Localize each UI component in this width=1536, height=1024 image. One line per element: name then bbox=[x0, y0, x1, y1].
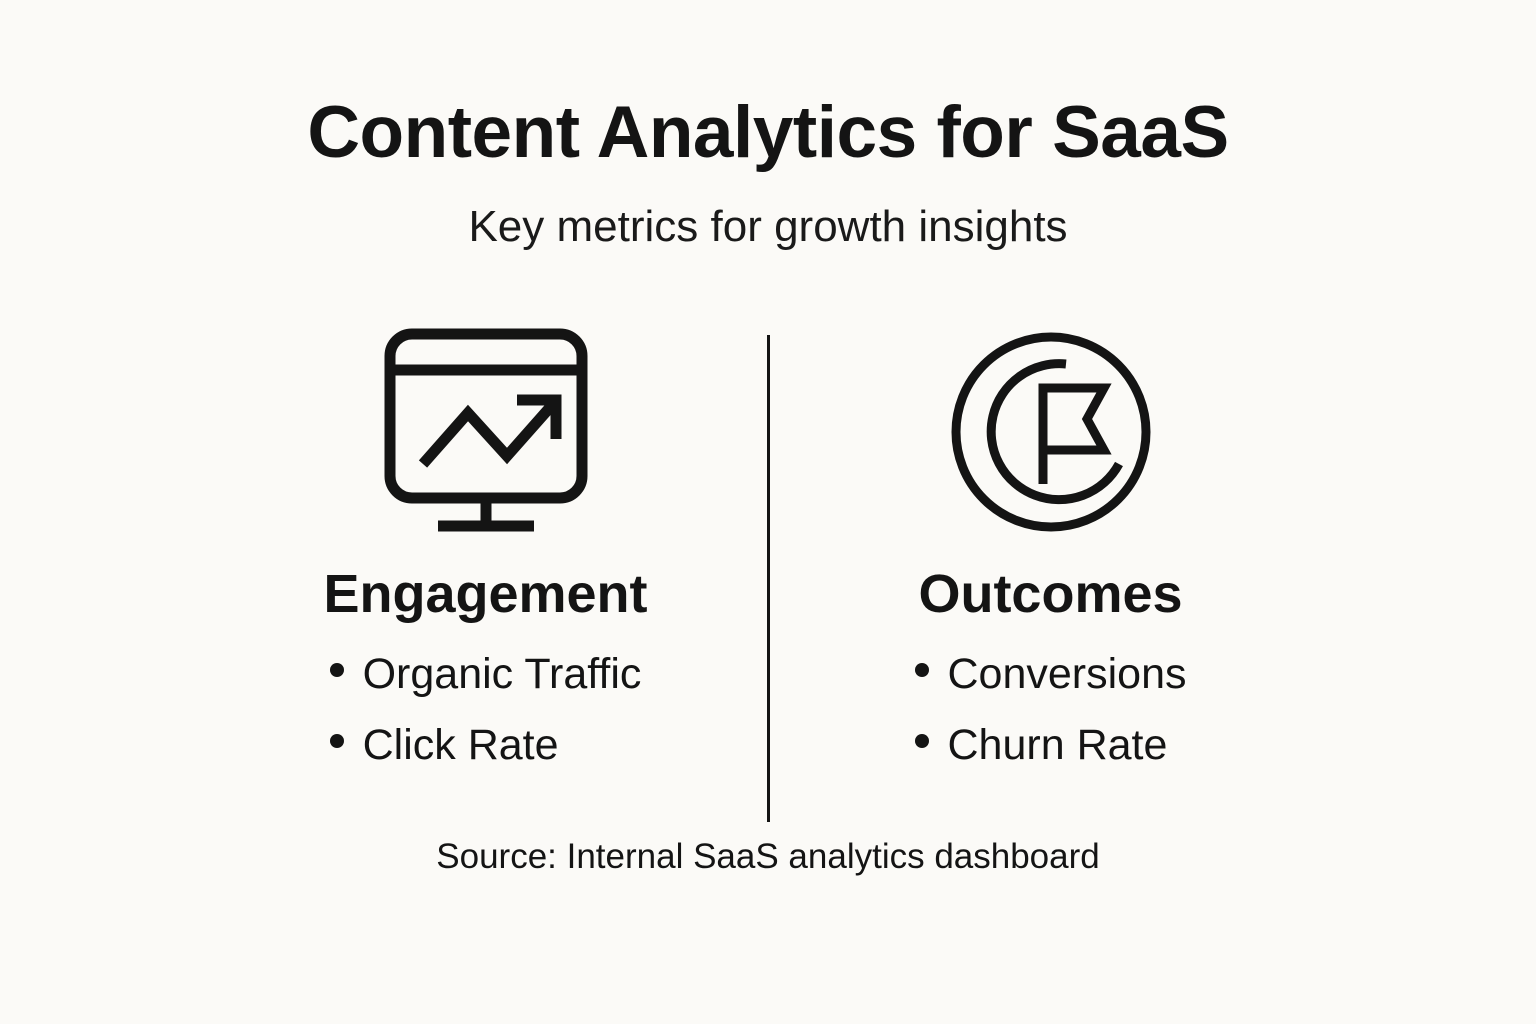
list-item-label: Conversions bbox=[948, 653, 1187, 696]
bullet-dot-icon bbox=[330, 734, 344, 748]
list-item: Conversions bbox=[915, 653, 1187, 696]
list-item-label: Organic Traffic bbox=[363, 653, 642, 696]
column-heading-outcomes: Outcomes bbox=[918, 567, 1182, 621]
bullet-list-engagement: Organic Traffic Click Rate bbox=[330, 653, 642, 767]
list-item: Churn Rate bbox=[915, 724, 1187, 767]
columns-container: Engagement Organic Traffic Click Rate bbox=[203, 327, 1333, 767]
list-item-label: Click Rate bbox=[363, 724, 559, 767]
bullet-dot-icon bbox=[330, 663, 344, 677]
page-title: Content Analytics for SaaS bbox=[0, 96, 1536, 169]
page-subtitle: Key metrics for growth insights bbox=[0, 205, 1536, 249]
column-divider bbox=[767, 335, 770, 822]
column-outcomes: Outcomes Conversions Churn Rate bbox=[768, 327, 1333, 767]
bullet-dot-icon bbox=[915, 663, 929, 677]
monitor-chart-icon bbox=[381, 327, 591, 537]
list-item-label: Churn Rate bbox=[948, 724, 1168, 767]
header: Content Analytics for SaaS Key metrics f… bbox=[0, 96, 1536, 249]
list-item: Click Rate bbox=[330, 724, 642, 767]
bullet-list-outcomes: Conversions Churn Rate bbox=[915, 653, 1187, 767]
slide-root: Content Analytics for SaaS Key metrics f… bbox=[0, 0, 1536, 1024]
column-heading-engagement: Engagement bbox=[323, 567, 647, 621]
column-engagement: Engagement Organic Traffic Click Rate bbox=[203, 327, 768, 767]
list-item: Organic Traffic bbox=[330, 653, 642, 696]
flag-target-icon bbox=[948, 327, 1154, 537]
source-caption: Source: Internal SaaS analytics dashboar… bbox=[436, 837, 1099, 877]
bullet-dot-icon bbox=[915, 734, 929, 748]
